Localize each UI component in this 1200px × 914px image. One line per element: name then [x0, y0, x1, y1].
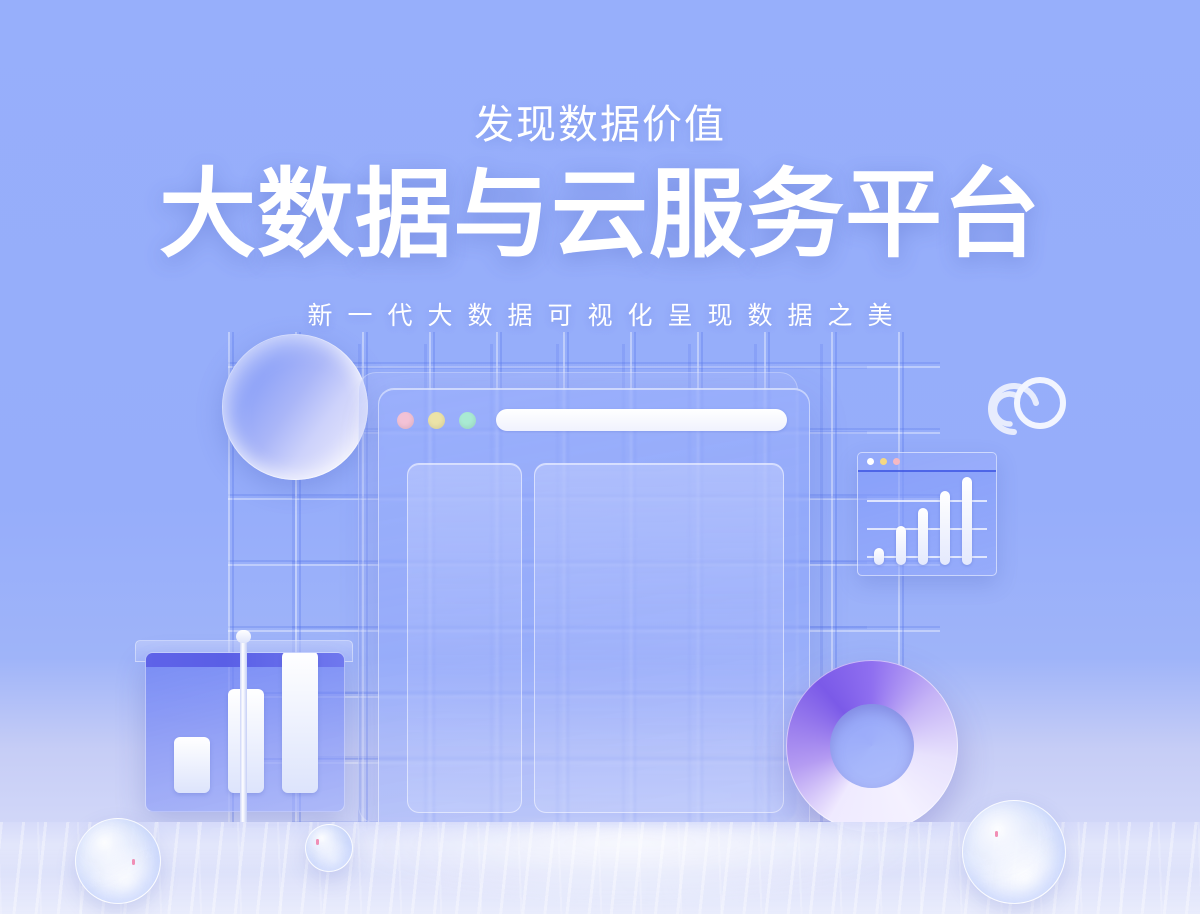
page-title: 大数据与云服务平台	[0, 163, 1200, 268]
sphere-highlight	[316, 839, 319, 845]
close-dot[interactable]	[397, 412, 414, 429]
bar	[962, 477, 972, 565]
bar-chart-plot	[858, 472, 996, 576]
hero-tagline: 新一代大数据可视化呈现数据之美	[0, 296, 1200, 332]
bar	[896, 526, 906, 565]
content-panel[interactable]	[534, 463, 784, 813]
address-bar[interactable]	[496, 409, 787, 431]
hero-eyebrow: 发现数据价值	[0, 92, 1200, 150]
glass-sphere-right	[962, 800, 1066, 904]
main-browser-window[interactable]	[378, 388, 810, 826]
bar	[174, 737, 210, 793]
bar-chart-window[interactable]	[857, 452, 997, 576]
maximize-dot[interactable]	[459, 412, 476, 429]
sphere-highlight	[132, 859, 135, 865]
stand-pole	[240, 636, 247, 832]
purple-torus	[786, 660, 958, 832]
sidebar-panel[interactable]	[407, 463, 522, 813]
cloud-icon	[976, 362, 1068, 440]
window-title-bar	[379, 389, 809, 451]
gradient-disc	[222, 334, 368, 480]
close-dot[interactable]	[867, 458, 874, 465]
stand-cap	[236, 630, 251, 643]
glass-sphere-center	[305, 824, 353, 872]
floor-glow	[320, 826, 940, 906]
minimize-dot[interactable]	[880, 458, 887, 465]
chart-window-title-bar	[858, 453, 996, 472]
bar	[940, 491, 950, 565]
bar	[918, 508, 928, 565]
glass-sphere-left	[75, 818, 161, 904]
minimize-dot[interactable]	[428, 412, 445, 429]
bar	[282, 652, 318, 793]
sphere-highlight	[995, 831, 998, 837]
maximize-dot[interactable]	[893, 458, 900, 465]
bar	[874, 548, 884, 565]
hero-banner: 发现数据价值 大数据与云服务平台 新一代大数据可视化呈现数据之美	[0, 0, 1200, 914]
